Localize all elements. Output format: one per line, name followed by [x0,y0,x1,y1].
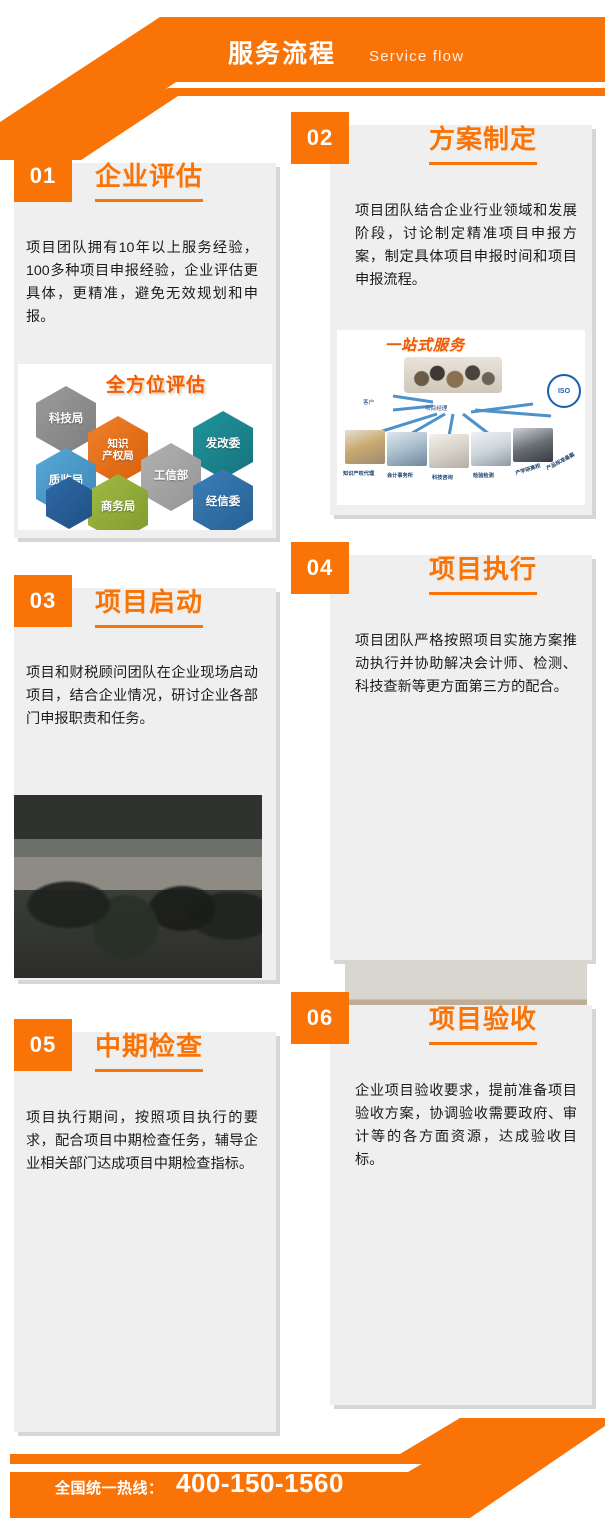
step-body-06: 企业项目验收要求，提前准备项目验收方案，协调验收需要政府、审计等的各方面资源，达… [355,1080,577,1172]
step-title-01: 企业评估 [95,162,203,202]
step-badge-02: 02 [291,112,349,164]
one-stop-arrows [337,330,585,505]
step-body-01: 项目团队拥有10年以上服务经验，100多种项目申报经验，企业评估更具体，更精准，… [26,237,258,329]
service-flow-infographic: 服务流程 Service flow 01 企业评估 项目团队拥有10年以上服务经… [0,0,605,1538]
step-body-04: 项目团队严格按照项目实施方案推动执行并协助解决会计师、检测、科技查新等更方面第三… [355,630,577,699]
hex-node-fagaiwei: 发改委 [193,411,253,479]
page-header: 服务流程 Service flow [0,0,605,105]
step-body-05: 项目执行期间，按照项目执行的要求，配合项目中期检查任务，辅导企业相关部门达成项目… [26,1107,258,1176]
page-title: 服务流程 [228,42,336,67]
hexagon-assessment-figure: 全方位评估 科技局 知识产权局 发改委 质监局 工信部 商务局 经信委 [18,364,272,530]
step-badge-01: 01 [14,150,72,202]
thumb-ip-agency [345,430,385,464]
step-body-03: 项目和财税顾问团队在企业现场启动项目，结合企业情况，研讨企业各部门申报职责和任务… [26,662,258,731]
branch-label-2: 科技咨询 [432,474,453,481]
thumb-tech-consulting [429,434,469,468]
one-stop-service-figure: 一站式服务 客户 项目经理 ISO 知识产权代理 会计事务所 科技咨询 检验检测… [337,330,585,505]
hex-node-keji: 科技局 [36,386,96,454]
step-badge-06: 06 [291,992,349,1044]
page-footer: 全国统一热线： 400-150-1560 [0,1418,605,1538]
hex-node-zhishichanquan: 知识产权局 [88,416,148,484]
hex-node-jingxinwei: 经信委 [193,469,253,530]
step-badge-03: 03 [14,575,72,627]
step-card-06 [330,1005,592,1405]
step-title-03: 项目启动 [95,588,203,628]
step-title-04: 项目执行 [429,555,537,595]
branch-label-1: 会计事务所 [387,472,413,479]
step-title-02: 方案制定 [429,125,537,165]
step-title-05: 中期检查 [95,1032,203,1072]
branch-label-0: 知识产权代理 [343,470,374,477]
certification-seal-icon: ISO [547,374,581,408]
step-badge-05: 05 [14,1019,72,1071]
hex-diagram-title: 全方位评估 [106,370,206,397]
step-card-04 [330,555,592,960]
thumb-accounting-firm [387,432,427,466]
branch-label-3: 检验检测 [473,472,494,479]
step-title-06: 项目验收 [429,1005,537,1045]
page-subtitle: Service flow [369,49,464,64]
thumb-inspection-testing [471,432,511,466]
step-body-02: 项目团队结合企业行业领域和发展阶段，讨论制定精准项目申报方案，制定具体项目申报时… [355,200,577,292]
conference-room-photo [14,795,262,978]
hotline-label: 全国统一热线： [55,1477,164,1498]
hotline-number[interactable]: 400-150-1560 [176,1468,344,1499]
hex-node-shangwuju: 商务局 [88,474,148,530]
step-badge-04: 04 [291,542,349,594]
step-card-05 [14,1032,276,1432]
thumb-university-research [513,428,553,462]
hex-node-gongxinbu: 工信部 [141,443,201,511]
